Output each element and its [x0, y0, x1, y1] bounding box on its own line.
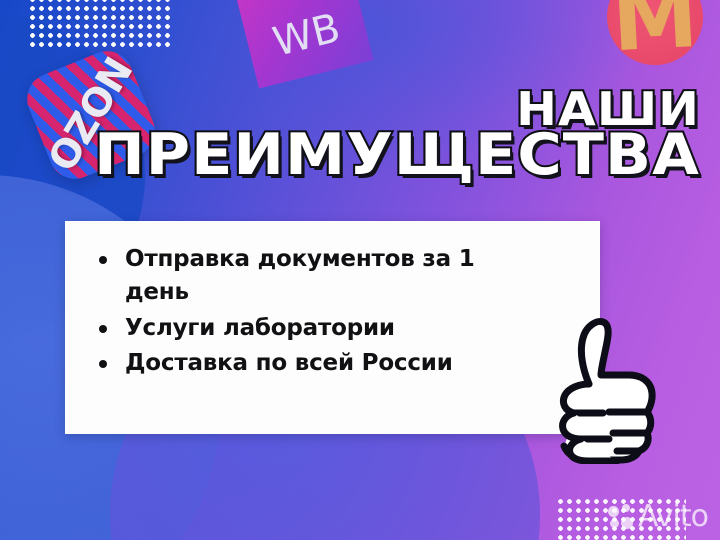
thumbs-up-icon [543, 312, 667, 464]
avito-logo-icon [608, 504, 634, 530]
page-title: НАШИ ПРЕИМУЩЕСТВА [0, 88, 700, 183]
benefits-list: Отправка документов за 1 день Услуги лаб… [65, 221, 600, 380]
avito-watermark-text: Avito [638, 499, 708, 534]
megamarket-logo: M [607, 0, 703, 65]
wildberries-logo: WB [230, 0, 373, 89]
dot-pattern-top-left [28, 0, 174, 49]
list-item: Доставка по всей России [97, 347, 545, 380]
benefits-card: Отправка документов за 1 день Услуги лаб… [65, 221, 600, 434]
list-item: Отправка документов за 1 день [97, 243, 545, 310]
page-title-line-2: ПРЕИМУЩЕСТВА [0, 129, 700, 183]
list-item: Услуги лаборатории [97, 312, 545, 345]
megamarket-logo-text: M [610, 0, 700, 64]
promo-poster: OZON WB M НАШИ ПРЕИМУЩЕСТВА Отправка док… [0, 0, 720, 540]
avito-watermark: Avito [608, 499, 708, 534]
dot-pattern-bottom-right [556, 497, 686, 540]
wildberries-logo-text: WB [268, 5, 344, 66]
